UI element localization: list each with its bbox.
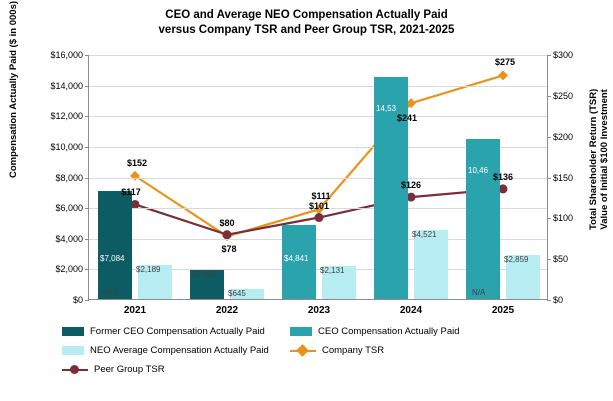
- legend-swatch-company-tsr: [290, 345, 316, 356]
- x-axis-category-label: 2022: [216, 305, 238, 316]
- y-axis-tick-label: $6,000: [55, 203, 89, 213]
- legend-swatch-former-ceo: [62, 327, 84, 336]
- y2-axis-label-line-1: Total Shareholder Return (TSR): [588, 89, 599, 230]
- gridline: [89, 86, 547, 87]
- x-axis-category-label: 2023: [308, 305, 330, 316]
- legend-row-2: NEO Average Compensation Actually Paid C…: [62, 341, 562, 360]
- bar-value-label: $2,189: [136, 265, 160, 274]
- bar-value-label: $1,915: [192, 270, 216, 279]
- gridline: [89, 55, 547, 56]
- y-axis-tick-label: $0: [73, 295, 89, 305]
- chart-title: CEO and Average NEO Compensation Actuall…: [0, 8, 613, 38]
- y-axis-tick-label: $2,000: [55, 264, 89, 274]
- x-axis-category-label: 2021: [124, 305, 146, 316]
- y-axis-label: Compensation Actually Paid ($ in 000s): [8, 1, 19, 178]
- legend-item-neo[interactable]: NEO Average Compensation Actually Paid: [62, 345, 290, 356]
- chart-title-line-2: versus Company TSR and Peer Group TSR, 2…: [0, 23, 613, 38]
- x-axis-category-label: 2025: [492, 305, 514, 316]
- peer-tsr-point-label: $117: [121, 187, 141, 197]
- legend-item-former-ceo[interactable]: Former CEO Compensation Actually Paid: [62, 326, 290, 337]
- legend-swatch-neo: [62, 346, 84, 355]
- diamond-marker-icon: [222, 231, 232, 241]
- company-tsr-point-label: $78: [221, 244, 236, 254]
- legend-row-1: Former CEO Compensation Actually Paid CE…: [62, 322, 562, 341]
- y2-axis-tick-label: $50: [547, 254, 568, 264]
- y-axis-tick-label: $10,000: [50, 142, 89, 152]
- legend-label-peer-tsr: Peer Group TSR: [94, 364, 165, 375]
- na-annotation: N/A: [472, 288, 485, 297]
- y2-axis-tick-label: $150: [547, 173, 573, 183]
- y-axis-tick-label: $8,000: [55, 173, 89, 183]
- legend-item-ceo[interactable]: CEO Compensation Actually Paid: [290, 326, 460, 337]
- na-annotation: N/A: [105, 288, 118, 297]
- y2-axis-tick-label: $0: [547, 295, 563, 305]
- bar-value-label: 10,46: [468, 166, 488, 175]
- diamond-marker-icon: [296, 344, 309, 357]
- y-axis-tick-label: $4,000: [55, 234, 89, 244]
- line-path: [135, 75, 503, 236]
- chart-title-line-1: CEO and Average NEO Compensation Actuall…: [0, 8, 613, 23]
- x-axis-category-label: 2024: [400, 305, 422, 316]
- legend-swatch-peer-tsr: [62, 364, 88, 375]
- y2-axis-tick-label: $200: [547, 132, 573, 142]
- y-axis-tick-label: $16,000: [50, 50, 89, 60]
- bar-ceo: [466, 139, 500, 299]
- legend-label-former-ceo: Former CEO Compensation Actually Paid: [90, 326, 265, 337]
- bar-value-label: $4,841: [284, 254, 308, 263]
- y2-axis-label: Total Shareholder Return (TSR) Value of …: [588, 89, 610, 230]
- gridline: [89, 116, 547, 117]
- bar-value-label: $4,521: [412, 230, 436, 239]
- y2-axis-tick-label: $250: [547, 91, 573, 101]
- legend-item-peer-tsr[interactable]: Peer Group TSR: [62, 364, 290, 375]
- chart-legend: Former CEO Compensation Actually Paid CE…: [62, 322, 562, 379]
- y2-axis-tick-label: $100: [547, 213, 573, 223]
- legend-label-ceo: CEO Compensation Actually Paid: [318, 326, 460, 337]
- company-tsr-point-label: $241: [397, 113, 417, 123]
- diamond-marker-icon: [130, 171, 140, 181]
- company-tsr-point-label: $152: [127, 158, 147, 168]
- bar-value-label: $2,859: [504, 255, 528, 264]
- bar-value-label: $2,131: [320, 266, 344, 275]
- y-axis-tick-label: $14,000: [50, 81, 89, 91]
- peer-tsr-point-label: $101: [309, 201, 329, 211]
- chart-container: CEO and Average NEO Compensation Actuall…: [0, 0, 613, 401]
- bar-value-label: $645: [228, 289, 246, 298]
- peer-tsr-point-label: $136: [493, 172, 513, 182]
- legend-label-neo: NEO Average Compensation Actually Paid: [90, 345, 269, 356]
- plot-area: $0$2,000$4,000$6,000$8,000$10,000$12,000…: [88, 55, 548, 300]
- y-axis-tick-label: $12,000: [50, 111, 89, 121]
- diamond-marker-icon: [498, 70, 508, 80]
- y2-axis-tick-label: $300: [547, 50, 573, 60]
- bar-neo: [414, 230, 448, 299]
- legend-swatch-ceo: [290, 327, 312, 336]
- bar-value-label: 14,53: [376, 104, 396, 113]
- legend-item-company-tsr[interactable]: Company TSR: [290, 345, 384, 356]
- legend-row-3: Peer Group TSR: [62, 360, 562, 379]
- circle-marker-icon: [315, 213, 324, 222]
- y2-axis-label-line-2: Value of Initial $100 Investment: [599, 89, 610, 229]
- peer-tsr-point-label: $80: [219, 218, 234, 228]
- bar-former-ceo: [98, 191, 132, 299]
- circle-marker-icon: [70, 365, 79, 374]
- bar-value-label: $7,084: [100, 254, 124, 263]
- company-tsr-point-label: $275: [495, 57, 515, 67]
- legend-label-company-tsr: Company TSR: [322, 345, 384, 356]
- peer-tsr-point-label: $126: [401, 180, 421, 190]
